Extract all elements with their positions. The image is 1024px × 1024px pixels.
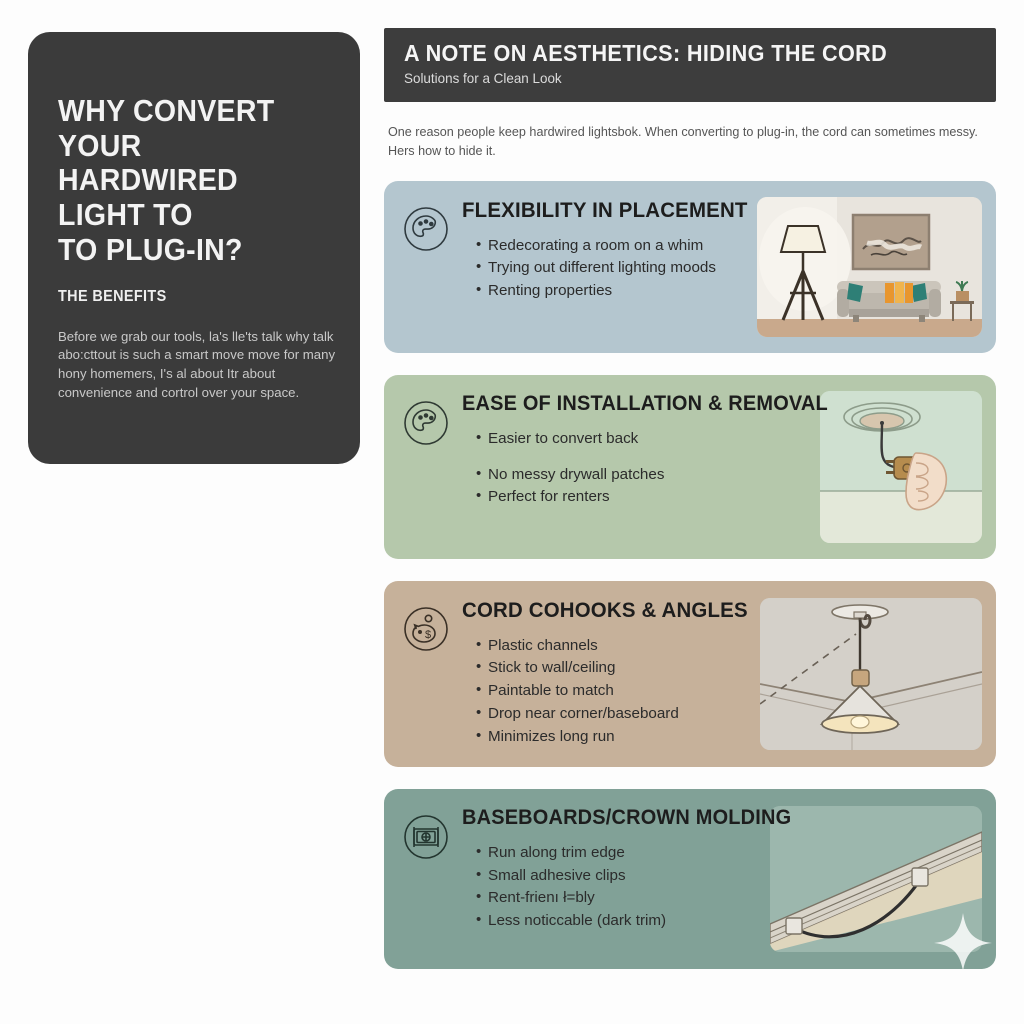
page-title: WHY CONVERT YOUR HARDWIRED LIGHT TO TO P… <box>58 94 308 268</box>
card-illustration-living-room <box>757 197 982 337</box>
right-content-column: A NOTE ON AESTHETICS: HIDING THE CORD So… <box>384 28 996 991</box>
section-header-bar: A NOTE ON AESTHETICS: HIDING THE CORD So… <box>384 28 996 102</box>
card-bullet-list: Easier to convert back No messy drywall … <box>462 429 804 507</box>
benefit-card: EASE OF INSTALLATION & REMOVAL Easier to… <box>384 375 996 559</box>
left-intro-panel: WHY CONVERT YOUR HARDWIRED LIGHT TO TO P… <box>28 32 360 464</box>
card-illustration-pendant-light <box>760 598 982 750</box>
list-item: Renting properties <box>476 281 741 301</box>
benefit-card: BASEBOARDS/CROWN MOLDING Run along trim … <box>384 789 996 969</box>
benefit-card-list: FLEXIBILITY IN PLACEMENT Redecorating a … <box>384 181 996 969</box>
list-item: Run along trim edge <box>476 843 754 863</box>
page-subtitle: THE BENEFITS <box>58 288 311 306</box>
section-title: A NOTE ON AESTHETICS: HIDING THE CORD <box>404 41 944 65</box>
list-item: Minimizes long run <box>476 727 744 747</box>
card-title: EASE OF INSTALLATION & REMOVAL <box>462 393 787 416</box>
page-intro-body: Before we grab our tools, la's lle'ts ta… <box>58 328 343 403</box>
infographic-page: WHY CONVERT YOUR HARDWIRED LIGHT TO TO P… <box>0 0 1024 1024</box>
card-bullet-list: Plastic channels Stick to wall/ceiling P… <box>462 636 744 747</box>
card-title: CORD COHOOKS & ANGLES <box>462 599 730 622</box>
palette-icon <box>402 399 450 447</box>
list-item: Drop near corner/baseboard <box>476 704 744 724</box>
card-illustration-hand-plug <box>820 391 982 543</box>
banknote-icon <box>402 813 450 861</box>
list-item: Paintable to match <box>476 681 744 701</box>
list-item: Rent-frienı ł=bly <box>476 888 754 908</box>
card-title: BASEBOARDS/CROWN MOLDING <box>462 807 739 830</box>
list-item: Redecorating a room on a whim <box>476 236 741 256</box>
benefit-card: FLEXIBILITY IN PLACEMENT Redecorating a … <box>384 181 996 353</box>
card-bullet-list: Redecorating a room on a whim Trying out… <box>462 236 741 301</box>
list-item: No messy drywall patches <box>476 465 804 485</box>
palette-icon <box>402 205 450 253</box>
card-bullet-list: Run along trim edge Small adhesive clips… <box>462 843 754 931</box>
piggy-bank-icon: $ <box>402 605 450 653</box>
card-title: FLEXIBILITY IN PLACEMENT <box>462 199 727 222</box>
svg-text:$: $ <box>425 629 431 641</box>
card-illustration-crown-molding <box>770 806 982 952</box>
section-subtitle: Solutions for a Clean Look <box>404 70 955 86</box>
list-item: Plastic channels <box>476 636 744 656</box>
list-item: Trying out different lighting moods <box>476 258 741 278</box>
section-intro-text: One reason people keep hardwired lightsb… <box>388 123 978 161</box>
list-item: Perfect for renters <box>476 487 804 507</box>
list-item: Less noticcable (dark trim) <box>476 911 754 931</box>
list-item: Stick to wall/ceiling <box>476 658 744 678</box>
list-item: Small adhesive clips <box>476 866 754 886</box>
benefit-card: $ CORD COHOOKS & ANGLES Plastic channels… <box>384 581 996 767</box>
list-item: Easier to convert back <box>476 429 804 449</box>
